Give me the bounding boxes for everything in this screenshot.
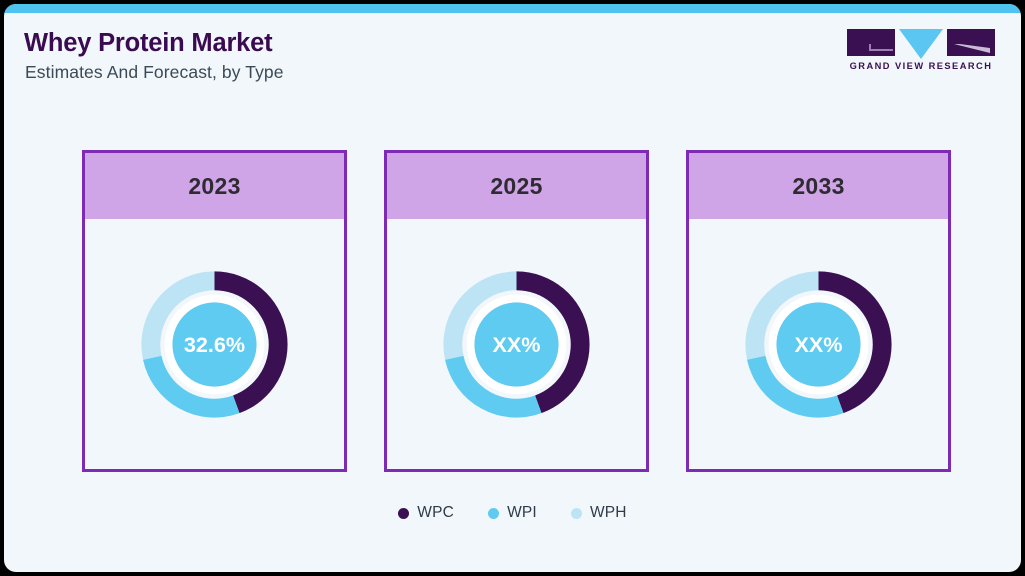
logo-slash-right-icon — [954, 44, 990, 53]
legend-label: WPH — [590, 504, 627, 522]
donut-container: XX% — [387, 219, 646, 469]
logo-wordmark: GRAND VIEW RESEARCH — [847, 61, 995, 71]
donut-center-label: 32.6% — [184, 332, 245, 357]
legend-item-wpi[interactable]: WPI — [488, 504, 537, 522]
logo-rect-left-icon — [847, 29, 895, 56]
card-year-label: 2023 — [188, 173, 240, 200]
card-year-label: 2025 — [490, 173, 542, 200]
donut-container: XX% — [689, 219, 948, 469]
donut-chart: 32.6% — [137, 267, 292, 422]
year-card-2023[interactable]: 202332.6% — [82, 150, 347, 472]
card-header-band: 2025 — [387, 153, 646, 219]
donut-chart: XX% — [741, 267, 896, 422]
donut-container: 32.6% — [85, 219, 344, 469]
legend-item-wph[interactable]: WPH — [571, 504, 627, 522]
legend-swatch-icon — [488, 508, 499, 519]
legend-item-wpc[interactable]: WPC — [398, 504, 454, 522]
card-header-band: 2023 — [85, 153, 344, 219]
legend-label: WPI — [507, 504, 537, 522]
year-cards-row: 202332.6%2025XX%2033XX% — [82, 150, 952, 472]
page-title: Whey Protein Market — [24, 29, 272, 58]
legend-swatch-icon — [398, 508, 409, 519]
page-subtitle: Estimates And Forecast, by Type — [25, 62, 284, 83]
legend-label: WPC — [417, 504, 454, 522]
donut-chart: XX% — [439, 267, 594, 422]
year-card-2025[interactable]: 2025XX% — [384, 150, 649, 472]
donut-center-label: XX% — [795, 332, 843, 357]
logo-bracket-left-icon — [869, 44, 893, 51]
top-accent-strip — [4, 4, 1021, 13]
brand-logo: GRAND VIEW RESEARCH — [847, 22, 995, 78]
triangle-down-icon — [899, 29, 943, 59]
legend: WPCWPIWPH — [4, 504, 1021, 522]
year-card-2033[interactable]: 2033XX% — [686, 150, 951, 472]
card-header-band: 2033 — [689, 153, 948, 219]
infographic-card: Whey Protein Market Estimates And Foreca… — [4, 4, 1021, 572]
donut-center-label: XX% — [493, 332, 541, 357]
legend-swatch-icon — [571, 508, 582, 519]
card-year-label: 2033 — [792, 173, 844, 200]
